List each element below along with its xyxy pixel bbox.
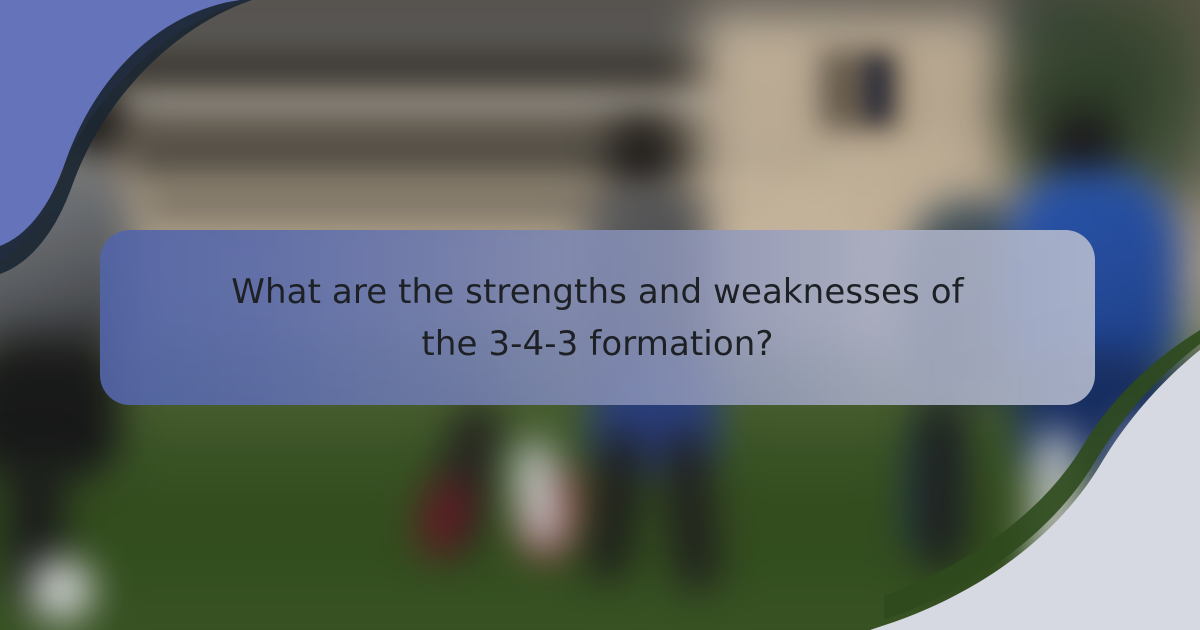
- question-text: What are the strengths and weaknesses of…: [228, 266, 968, 370]
- screenshot-canvas: What are the strengths and weaknesses of…: [0, 0, 1200, 630]
- question-card: What are the strengths and weaknesses of…: [100, 230, 1095, 405]
